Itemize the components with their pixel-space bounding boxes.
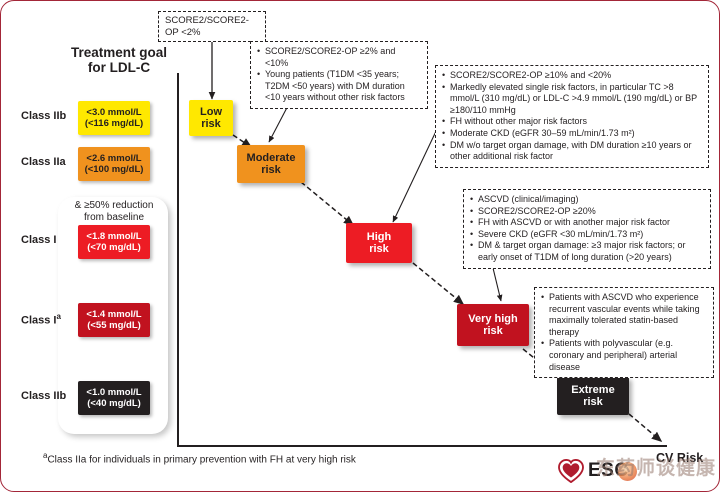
callout-item: Markedly elevated single risk factors, i… bbox=[442, 82, 702, 117]
ldl-goal-mgdl: (<116 mg/dL) bbox=[85, 118, 143, 130]
callout-very-high-risk: ASCVD (clinical/imaging) SCORE2/SCORE2-O… bbox=[463, 189, 711, 269]
ldl-goal-mmol: <2.6 mmol/L bbox=[86, 153, 141, 165]
class-label-text: Class I bbox=[21, 234, 56, 246]
footnote: aClass IIa for individuals in primary pr… bbox=[43, 451, 356, 465]
ldl-goal-box-class-iib-3-0: <3.0 mmol/L (<116 mg/dL) bbox=[78, 101, 150, 135]
callout-item: Patients with ASCVD who experience recur… bbox=[541, 292, 707, 338]
callout-item: Young patients (T1DM <35 years; T2DM <50… bbox=[257, 69, 421, 104]
callout-item: SCORE2/SCORE2-OP ≥20% bbox=[470, 206, 704, 218]
risk-box-low: Low risk bbox=[189, 100, 233, 136]
callout-item: ASCVD (clinical/imaging) bbox=[470, 194, 704, 206]
callout-item: Severe CKD (eGFR <30 mL/min/1.73 m²) bbox=[470, 229, 704, 241]
risk-box-moderate: Moderate risk bbox=[237, 145, 305, 183]
treatment-goal-title-line1: Treatment goal bbox=[55, 45, 183, 60]
risk-box-line2: risk bbox=[261, 164, 281, 176]
class-label-row-2: Class IIa bbox=[21, 156, 83, 168]
callout-extreme-risk: Patients with ASCVD who experience recur… bbox=[534, 287, 714, 378]
treatment-goal-title-line2: for LDL-C bbox=[55, 60, 183, 75]
risk-box-line2: risk bbox=[201, 118, 221, 130]
ldl-goal-box-class-i-1-4: <1.4 mmol/L (<55 mg/dL) bbox=[78, 303, 150, 337]
ldl-goal-mmol: <1.8 mmol/L bbox=[86, 231, 141, 243]
risk-box-line1: Moderate bbox=[247, 152, 296, 164]
ldl-goal-box-class-iib-1-0: <1.0 mmol/L (<40 mg/dL) bbox=[78, 381, 150, 415]
risk-box-extreme: Extreme risk bbox=[557, 377, 629, 415]
class-label-superscript: a bbox=[56, 312, 60, 321]
class-label-row-4: Class Ia bbox=[21, 312, 83, 327]
risk-box-line2: risk bbox=[583, 396, 603, 408]
callout-low-risk: SCORE2/SCORE2-OP <2% bbox=[158, 11, 266, 42]
risk-box-line2: risk bbox=[369, 243, 389, 255]
ldl-goal-mgdl: (<40 mg/dL) bbox=[87, 398, 141, 410]
footnote-text: Class IIa for individuals in primary pre… bbox=[47, 454, 355, 465]
class-label-row-3: Class I bbox=[21, 234, 83, 246]
callout-item: DM w/o target organ damage, with DM dura… bbox=[442, 140, 702, 163]
callout-item: FH without other major risk factors bbox=[442, 116, 702, 128]
callout-item: DM & target organ damage: ≥3 major risk … bbox=[470, 240, 704, 263]
callout-item: Moderate CKD (eGFR 30–59 mL/min/1.73 m²) bbox=[442, 128, 702, 140]
risk-box-high: High risk bbox=[346, 223, 412, 263]
risk-box-very-high: Very high risk bbox=[457, 304, 529, 346]
callout-high-risk: SCORE2/SCORE2-OP ≥10% and <20% Markedly … bbox=[435, 65, 709, 168]
callout-item: SCORE2/SCORE2-OP ≥10% and <20% bbox=[442, 70, 702, 82]
callout-moderate-risk: SCORE2/SCORE2-OP ≥2% and <10% Young pati… bbox=[250, 41, 428, 109]
reduction-note-line1: & ≥50% reduction bbox=[53, 200, 175, 212]
risk-box-line1: Very high bbox=[468, 313, 518, 325]
ldl-goal-mmol: <1.4 mmol/L bbox=[86, 309, 141, 321]
class-label-text: Class IIb bbox=[21, 390, 66, 402]
watermark-text: 东药师谈健康 bbox=[596, 453, 716, 480]
ldl-goal-box-class-iia-2-6: <2.6 mmol/L (<100 mg/dL) bbox=[78, 147, 150, 181]
ldl-goal-mgdl: (<100 mg/dL) bbox=[85, 164, 144, 176]
ldl-goal-box-class-i-1-8: <1.8 mmol/L (<70 mg/dL) bbox=[78, 225, 150, 259]
risk-categories-diagram: Treatment goal for LDL-C Class IIb Class… bbox=[0, 0, 720, 492]
heart-icon bbox=[558, 459, 584, 483]
class-label-text: Class I bbox=[21, 315, 56, 327]
class-label-row-5: Class IIb bbox=[21, 390, 83, 402]
reduction-from-baseline-note: & ≥50% reduction from baseline bbox=[53, 200, 175, 224]
callout-low-risk-text: SCORE2/SCORE2-OP <2% bbox=[165, 15, 249, 38]
class-label-row-1: Class IIb bbox=[21, 110, 83, 122]
y-axis-line bbox=[177, 73, 179, 447]
risk-box-line1: Extreme bbox=[571, 384, 614, 396]
callout-item: SCORE2/SCORE2-OP ≥2% and <10% bbox=[257, 46, 421, 69]
risk-box-line1: Low bbox=[200, 106, 222, 118]
treatment-goal-title: Treatment goal for LDL-C bbox=[55, 45, 183, 75]
callout-item: Patients with polyvascular (e.g. coronar… bbox=[541, 338, 707, 373]
ldl-goal-mgdl: (<55 mg/dL) bbox=[87, 320, 141, 332]
callout-item: FH with ASCVD or with another major risk… bbox=[470, 217, 704, 229]
reduction-note-line2: from baseline bbox=[53, 212, 175, 224]
risk-box-line1: High bbox=[367, 231, 391, 243]
class-label-text: Class IIa bbox=[21, 156, 66, 168]
risk-box-line2: risk bbox=[483, 325, 503, 337]
ldl-goal-mmol: <1.0 mmol/L bbox=[86, 387, 141, 399]
class-label-text: Class IIb bbox=[21, 110, 66, 122]
ldl-goal-mgdl: (<70 mg/dL) bbox=[87, 242, 141, 254]
ldl-goal-mmol: <3.0 mmol/L bbox=[86, 107, 141, 119]
x-axis-line bbox=[177, 445, 667, 447]
